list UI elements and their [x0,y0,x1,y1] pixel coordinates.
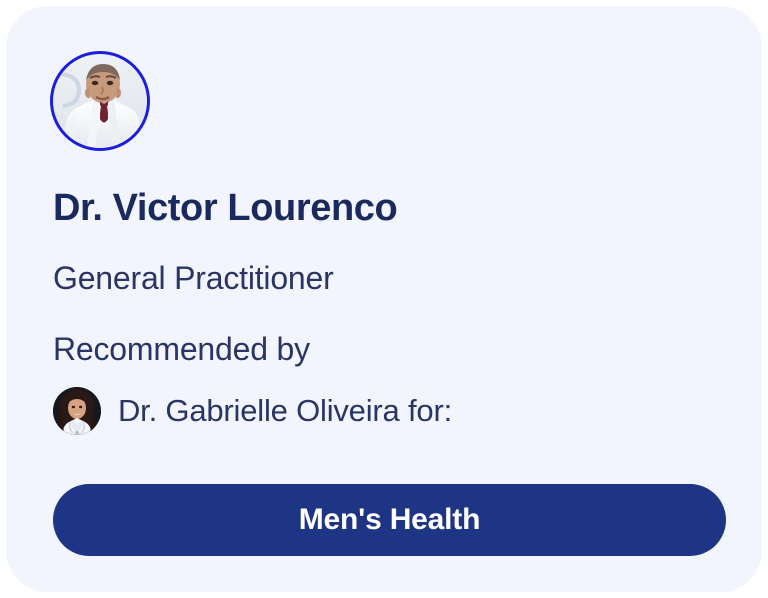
doctor-specialty: General Practitioner [53,260,334,297]
mens-health-button[interactable]: Men's Health [53,484,726,556]
doctor-portrait-illustration [53,54,147,148]
recommender-name: Dr. Gabrielle Oliveira for: [118,393,452,429]
recommender-avatar [53,387,101,435]
doctor-recommendation-card: Dr. Victor Lourenco General Practitioner… [6,6,762,592]
mens-health-button-label: Men's Health [299,503,480,537]
recommended-by-label: Recommended by [53,331,310,368]
recommender-row: Dr. Gabrielle Oliveira for: [53,386,452,436]
doctor-avatar [50,51,150,151]
doctor-avatar-photo [53,54,147,148]
doctor-name: Dr. Victor Lourenco [53,187,397,230]
recommender-portrait-illustration [53,387,101,435]
